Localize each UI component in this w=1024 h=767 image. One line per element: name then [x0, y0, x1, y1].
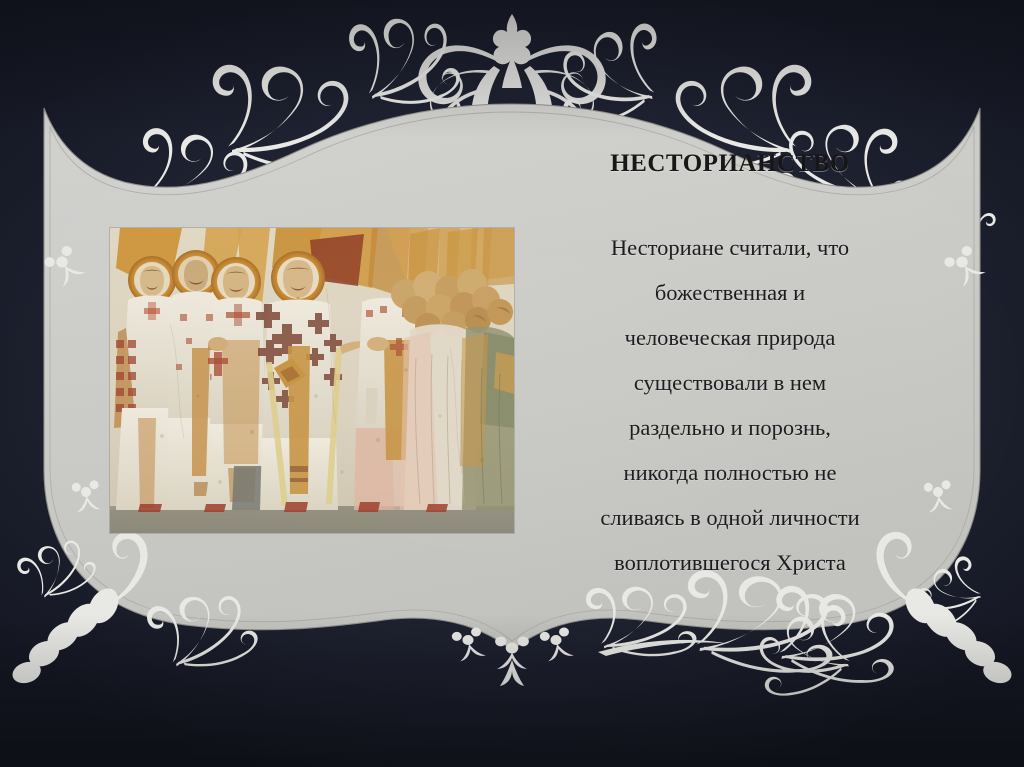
fresco-illustration [110, 228, 514, 533]
body-line: никогда полностью не [528, 450, 932, 495]
slide-content: НЕСТОРИАНСТВО Несториане считали, что бо… [0, 0, 1024, 767]
body-line: человеческая природа [528, 315, 932, 360]
presentation-slide: НЕСТОРИАНСТВО Несториане считали, что бо… [0, 0, 1024, 767]
body-line: сливаясь в одной личности [528, 495, 932, 540]
page-title: НЕСТОРИАНСТВО [528, 150, 932, 179]
body-line: Несториане считали, что [528, 225, 932, 270]
body-line: воплотившегося Христа [528, 540, 932, 585]
body-text: Несториане считали, что божественная и ч… [528, 225, 932, 585]
body-line: существовали в нем [528, 360, 932, 405]
fresco-image [110, 228, 514, 533]
body-line: раздельно и порознь, [528, 405, 932, 450]
text-column: НЕСТОРИАНСТВО Несториане считали, что бо… [528, 150, 932, 585]
body-line: божественная и [528, 270, 932, 315]
